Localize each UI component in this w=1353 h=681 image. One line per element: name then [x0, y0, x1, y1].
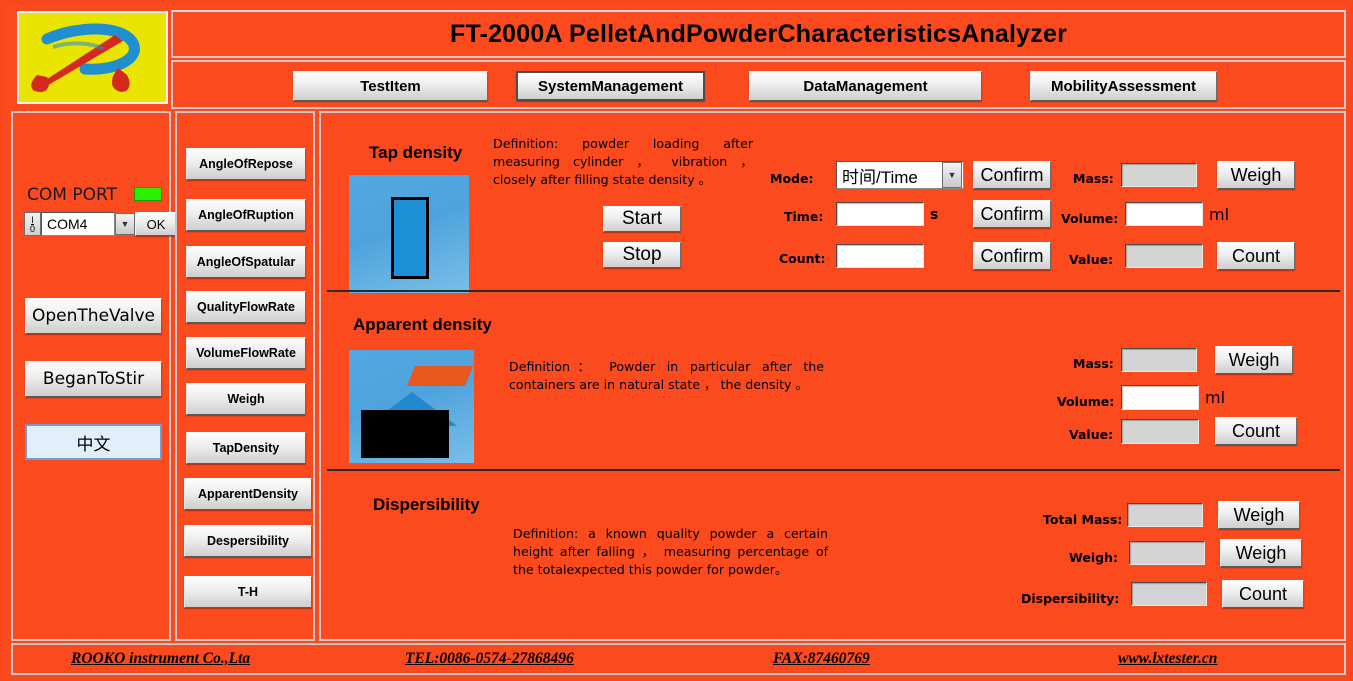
tap-density-mode-label: Mode:: [770, 171, 813, 186]
nav-tab-datamanagement[interactable]: DataManagement: [749, 71, 982, 101]
footer-fax: FAX:87460769: [773, 650, 870, 668]
apparent-density-mass-weigh-button[interactable]: Weigh: [1215, 346, 1293, 374]
dispersibility-title: Dispersibility: [373, 495, 480, 515]
nav-tab-systemmanagement[interactable]: SystemManagement: [516, 71, 705, 101]
open-the-valve-button[interactable]: OpenTheValve: [25, 298, 162, 334]
apparent-density-mass-value: [1121, 348, 1197, 372]
section-divider-2: [327, 469, 1340, 471]
tap-density-count-button[interactable]: Count: [1217, 242, 1295, 270]
tap-density-mode-value: 时间/Time: [842, 163, 918, 188]
chevron-down-icon[interactable]: ▼: [115, 213, 135, 235]
apparent-density-definition: Definition： Powder in particular after t…: [509, 358, 824, 394]
tap-density-illustration: [349, 175, 469, 293]
test-item-t-h[interactable]: T-H: [184, 576, 312, 608]
footer-bar: ROOKO instrument Co.,Lta TEL:0086-0574-2…: [11, 643, 1346, 675]
dispersibility-result-value: [1131, 582, 1207, 606]
tap-density-definition: Definition: powder loading after measuri…: [493, 135, 753, 189]
footer-company: ROOKO instrument Co.,Lta: [71, 650, 250, 668]
apparent-density-volume-input[interactable]: [1121, 385, 1199, 410]
dispersibility-weigh-button[interactable]: Weigh: [1220, 539, 1302, 567]
tap-density-mass-weigh-button[interactable]: Weigh: [1217, 161, 1295, 189]
tap-density-volume-unit: ml: [1209, 205, 1229, 224]
tap-density-title: Tap density: [369, 143, 462, 163]
logo-mark-icon: [19, 13, 166, 102]
footer-tel: TEL:0086-0574-27868496: [405, 650, 574, 668]
section-divider-1: [327, 290, 1340, 292]
com-port-select[interactable]: COM4: [41, 212, 115, 236]
com-port-label: COM PORT: [27, 185, 117, 205]
nav-bar: TestItem SystemManagement DataManagement…: [171, 60, 1346, 109]
tap-density-mass-label: Mass:: [1073, 171, 1114, 186]
application-window: FT-2000A PelletAndPowderCharacteristicsA…: [0, 0, 1353, 681]
tap-density-mass-value: [1121, 163, 1197, 187]
rooko-logo: [17, 11, 168, 104]
dispersibility-count-button[interactable]: Count: [1222, 580, 1304, 608]
test-item-list: AngleOfRepose AngleOfRuption AngleOfSpat…: [175, 111, 315, 641]
dispersibility-total-mass-weigh-button[interactable]: Weigh: [1218, 501, 1300, 529]
tap-density-volume-label: Volume:: [1061, 211, 1118, 226]
nav-tab-mobilityassessment[interactable]: MobilityAssessment: [1030, 71, 1217, 101]
footer-web: www.lxtester.cn: [1118, 650, 1217, 668]
apparent-density-illustration: [349, 350, 474, 463]
test-item-volumeflowrate[interactable]: VolumeFlowRate: [186, 337, 306, 369]
dispersibility-total-mass-label: Total Mass:: [1043, 512, 1122, 527]
tap-density-time-label: Time:: [784, 209, 823, 224]
apparent-density-count-button[interactable]: Count: [1215, 417, 1297, 445]
tap-density-time-unit: s: [930, 207, 938, 223]
com-port-selected-value: COM4: [47, 216, 87, 232]
test-item-apparentdensity[interactable]: ApparentDensity: [184, 478, 312, 510]
dispersibility-weigh-label: Weigh:: [1069, 550, 1118, 565]
title-bar: FT-2000A PelletAndPowderCharacteristicsA…: [171, 10, 1346, 58]
apparent-density-volume-label: Volume:: [1057, 394, 1114, 409]
tap-density-time-input[interactable]: [836, 202, 924, 226]
tap-density-value-label: Value:: [1069, 252, 1113, 267]
dispersibility-result-label: Dispersibility:: [1021, 591, 1119, 606]
apparent-density-volume-unit: ml: [1205, 388, 1225, 407]
container-icon: [361, 410, 449, 458]
tap-density-mode-confirm-button[interactable]: Confirm: [973, 161, 1051, 189]
language-toggle-button[interactable]: 中文: [25, 424, 162, 460]
began-to-stir-button[interactable]: BeganToStir: [25, 361, 162, 397]
page-title: FT-2000A PelletAndPowderCharacteristicsA…: [450, 20, 1067, 49]
tap-density-count-confirm-button[interactable]: Confirm: [973, 242, 1051, 270]
test-item-angleofruption[interactable]: AngleOfRuption: [186, 199, 306, 231]
test-item-angleofrepose[interactable]: AngleOfRepose: [186, 148, 306, 180]
tap-density-count-label: Count:: [779, 251, 826, 266]
apparent-density-title: Apparent density: [353, 315, 492, 335]
left-sidebar: COM PORT I0 COM4 ▼ OK OpenTheValve Began…: [11, 111, 171, 641]
tap-density-start-button[interactable]: Start: [603, 206, 681, 232]
apparent-density-value-value: [1121, 419, 1199, 444]
com-port-ok-button[interactable]: OK: [135, 212, 177, 236]
tap-density-volume-input[interactable]: [1125, 202, 1203, 226]
test-item-weigh[interactable]: Weigh: [186, 383, 306, 415]
apparent-density-value-label: Value:: [1069, 427, 1113, 442]
mode-chevron-down-icon[interactable]: ▼: [942, 162, 962, 188]
tap-density-stop-button[interactable]: Stop: [603, 242, 681, 268]
main-panel: Tap density Definition: powder loading a…: [319, 111, 1346, 641]
dispersibility-weigh-value: [1129, 541, 1205, 565]
io-resource-icon: I0: [24, 212, 41, 236]
tap-density-value-value: [1125, 244, 1203, 268]
tap-density-time-confirm-button[interactable]: Confirm: [973, 200, 1051, 228]
test-item-angleofspatular[interactable]: AngleOfSpatular: [186, 246, 306, 278]
test-item-tapdensity[interactable]: TapDensity: [186, 432, 306, 464]
test-item-qualityflowrate[interactable]: QualityFlowRate: [186, 291, 306, 323]
funnel-icon: [407, 366, 473, 386]
dispersibility-definition: Definition: a known quality powder a cer…: [513, 525, 828, 579]
nav-tab-testitem[interactable]: TestItem: [293, 71, 488, 101]
com-port-status-led: [134, 187, 162, 201]
dispersibility-total-mass-value: [1127, 503, 1203, 527]
apparent-density-mass-label: Mass:: [1073, 356, 1114, 371]
test-item-despersibility[interactable]: Despersibility: [184, 525, 312, 557]
tap-density-count-input[interactable]: [836, 244, 924, 268]
measuring-cylinder-icon: [391, 197, 429, 279]
